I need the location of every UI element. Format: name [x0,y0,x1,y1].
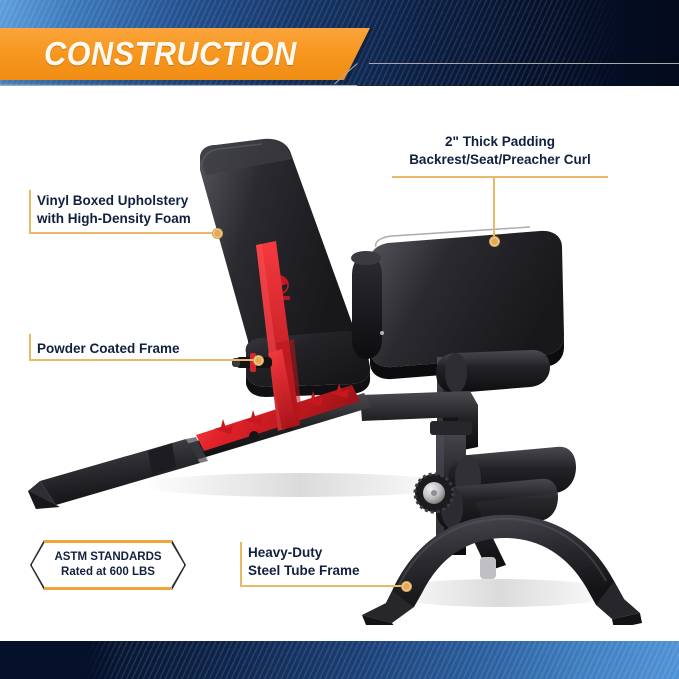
header-rule-left [0,85,357,86]
annotation-padding-text: 2" Thick Padding Backrest/Seat/Preacher … [392,133,608,169]
annotation-steel-text: Heavy-Duty Steel Tube Frame [248,544,360,580]
badge-line1: ASTM STANDARDS [54,550,161,565]
annotation-steel-dot [401,581,412,592]
annotation-steel-leader [240,585,405,587]
annotation-frame-bracket-vertical [29,334,31,361]
annotation-steel-bracket-vertical [240,542,242,587]
annotation-frame-leader [29,359,257,361]
floor-shadow [140,473,460,497]
header-rule-diagonal [349,63,383,87]
seat-support-roller [436,350,550,393]
annotation-upholstery-line1: Vinyl Boxed Upholstery [37,192,191,210]
annotation-padding-line2: Backrest/Seat/Preacher Curl [392,151,608,169]
badge-text: ASTM STANDARDS Rated at 600 LBS [30,540,186,590]
annotation-steel-line2: Steel Tube Frame [248,562,360,580]
badge-line2: Rated at 600 LBS [61,565,155,580]
page-title: CONSTRUCTION [44,35,297,73]
front-stabilizer-foot [28,437,208,509]
annotation-padding-underline [392,176,608,178]
annotation-padding-leader [493,176,495,241]
astm-standards-badge: ASTM STANDARDS Rated at 600 LBS [30,540,186,590]
title-banner: CONSTRUCTION [0,28,370,80]
footer-dark-left [0,641,120,679]
header-rule-right [369,63,679,64]
header-band: CONSTRUCTION [0,0,679,86]
annotation-padding-dot [489,236,500,247]
annotation-steel-line1: Heavy-Duty [248,544,360,562]
annotation-padding-line1: 2" Thick Padding [392,133,608,151]
annotation-frame-dot [253,355,264,366]
annotation-frame-text: Powder Coated Frame [37,340,180,358]
poster-canvas: CONSTRUCTION [0,0,679,679]
annotation-upholstery-leader [29,232,216,234]
annotation-upholstery-line2: with High-Density Foam [37,210,191,228]
annotation-frame-line1: Powder Coated Frame [37,340,180,358]
curved-base [362,515,642,625]
annotation-upholstery-text: Vinyl Boxed Upholstery with High-Density… [37,192,191,228]
adjustment-knob [415,474,453,512]
header-dark-right [549,0,679,86]
footer-band [0,641,679,679]
annotation-upholstery-dot [212,228,223,239]
annotation-upholstery-bracket-vertical [29,190,31,234]
